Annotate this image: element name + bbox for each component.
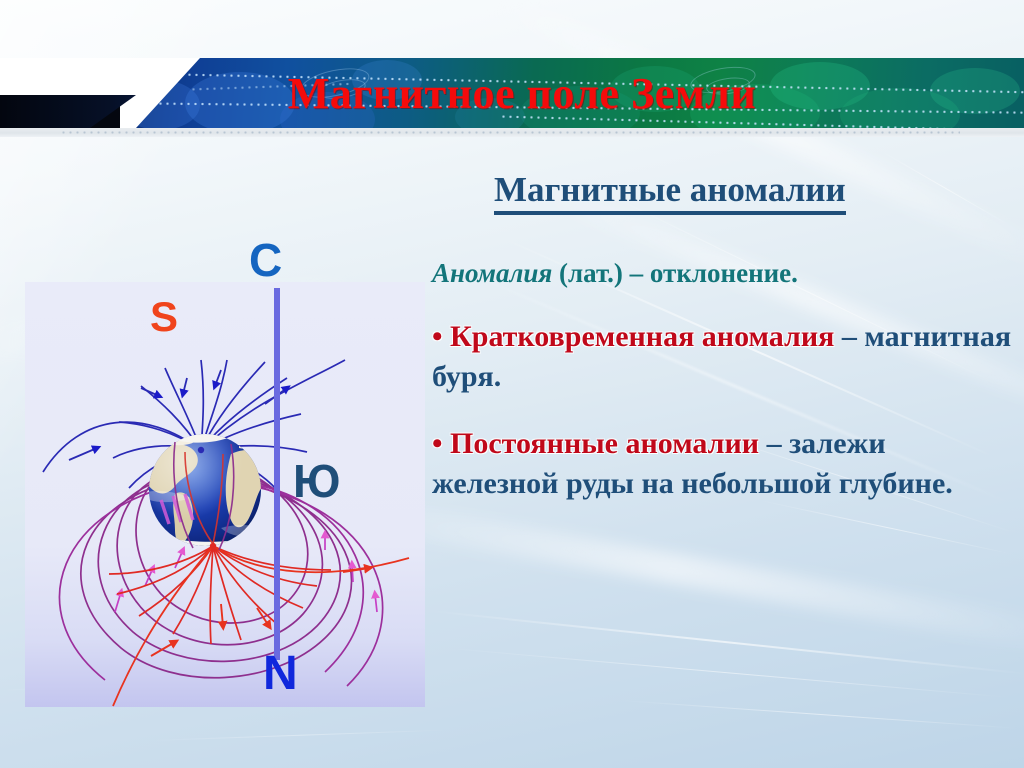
label-south-magnetic: S: [150, 296, 178, 338]
earth-globe: [137, 429, 274, 560]
definition-term: Аномалия: [432, 258, 552, 288]
bullet-marker: •: [432, 427, 443, 460]
label-north-geographic: С: [249, 237, 282, 283]
definition-line: Аномалия (лат.) – отклонение.: [432, 257, 1016, 289]
banner-underbar-dots: [60, 131, 960, 134]
label-south-geographic: Ю: [293, 458, 340, 504]
earth-magnetic-field-diagram: [25, 282, 425, 707]
bullet-item: • Кратковременная аномалия – магнитная б…: [432, 317, 1016, 396]
bullet-highlight: Кратковременная аномалия: [443, 320, 835, 353]
field-line-illustration: [25, 282, 425, 707]
bullet-marker: •: [432, 320, 443, 353]
label-north-magnetic: N: [263, 650, 298, 698]
content-column: Магнитные аномалии Аномалия (лат.) – отк…: [432, 172, 1016, 504]
bullet-highlight: Постоянные аномалии: [443, 427, 760, 460]
section-heading: Магнитные аномалии: [494, 172, 846, 215]
page-title: Магнитное поле Земли: [0, 58, 1024, 128]
bullet-item: • Постоянные аномалии – залежи железной …: [432, 424, 1016, 503]
definition-rest: (лат.) – отклонение.: [552, 258, 798, 288]
slide: Магнитное поле Земли: [0, 0, 1024, 768]
